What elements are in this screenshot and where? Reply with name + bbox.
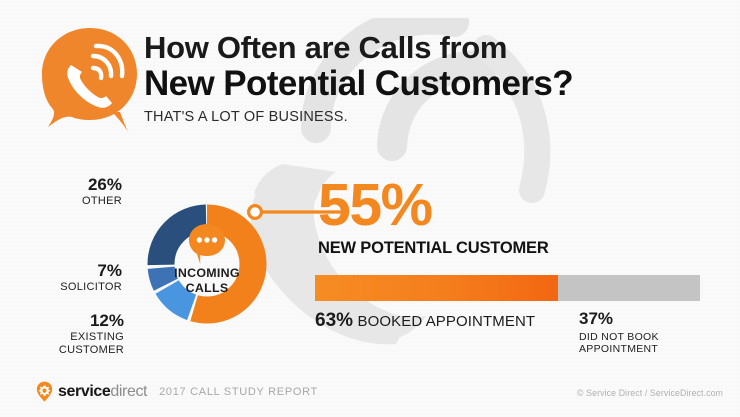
page-subtitle: THAT'S A LOT OF BUSINESS. [144,109,724,125]
appointment-booking-bar-chart [315,275,700,301]
label-solicitor-name: SOLICITOR [4,281,122,294]
legend-booked-pct: 63% [315,310,353,331]
legend-not-booked: 37% DID NOT BOOK APPOINTMENT [579,310,659,356]
gear-map-pin-icon [36,381,53,402]
callout-label: NEW POTENTIAL CUSTOMER [318,239,549,258]
report-label: 2017 CALL STUDY REPORT [159,386,318,398]
footer-branding: servicedirect 2017 CALL STUDY REPORT [36,381,318,402]
bar-segment-not-booked [558,275,700,301]
legend-not-booked-line2: APPOINTMENT [579,343,659,356]
logo-text-direct: direct [110,383,147,401]
page-title-line1: How Often are Calls from [144,31,724,64]
legend-not-booked-pct: 37% [579,310,659,329]
infographic-canvas: How Often are Calls from New Potential C… [0,0,740,417]
label-existing-name-line1: EXISTING [6,331,124,344]
page-title-line2: New Potential Customers? [144,65,724,103]
title-block: How Often are Calls from New Potential C… [144,31,724,125]
copyright-notice: © Service Direct / ServiceDirect.com [577,388,723,398]
label-other-name: OTHER [14,195,122,208]
label-existing-pct: 12% [6,312,124,330]
label-solicitor: 7% SOLICITOR [4,262,122,294]
phone-speech-bubble-icon [38,26,142,134]
label-other: 26% OTHER [14,176,122,208]
label-other-pct: 26% [14,176,122,194]
bar-segment-booked [315,275,558,301]
legend-booked: 63% BOOKED APPOINTMENT [315,310,535,332]
label-existing-name-line2: CUSTOMER [6,344,124,357]
legend-not-booked-line1: DID NOT BOOK [579,331,659,344]
legend-booked-label: BOOKED APPOINTMENT [357,313,535,330]
callout-percent: 55% [318,178,549,232]
label-solicitor-pct: 7% [4,262,122,280]
primary-callout: 55% NEW POTENTIAL CUSTOMER [318,178,549,258]
label-existing-customer: 12% EXISTING CUSTOMER [6,312,124,357]
logo-text-service: service [58,383,110,401]
chat-dots-bubble-icon [186,222,228,266]
